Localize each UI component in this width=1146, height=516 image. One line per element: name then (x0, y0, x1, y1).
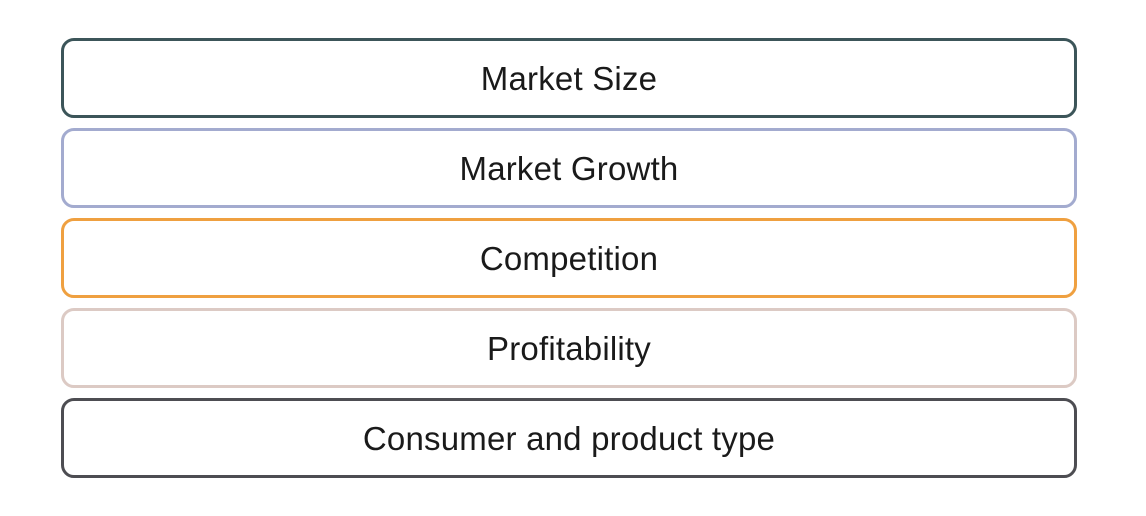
criteria-item-profitability[interactable]: Profitability (61, 308, 1077, 388)
criteria-item-consumer-and-product-type[interactable]: Consumer and product type (61, 398, 1077, 478)
criteria-diagram: Market Size Market Growth Competition Pr… (0, 0, 1146, 516)
criteria-item-competition[interactable]: Competition (61, 218, 1077, 298)
criteria-item-market-size[interactable]: Market Size (61, 38, 1077, 118)
criteria-item-market-growth[interactable]: Market Growth (61, 128, 1077, 208)
criteria-item-label: Market Size (481, 62, 657, 95)
criteria-list: Market Size Market Growth Competition Pr… (61, 38, 1077, 478)
criteria-item-label: Profitability (487, 332, 651, 365)
criteria-item-label: Competition (480, 242, 658, 275)
criteria-item-label: Consumer and product type (363, 422, 775, 455)
criteria-item-label: Market Growth (460, 152, 679, 185)
